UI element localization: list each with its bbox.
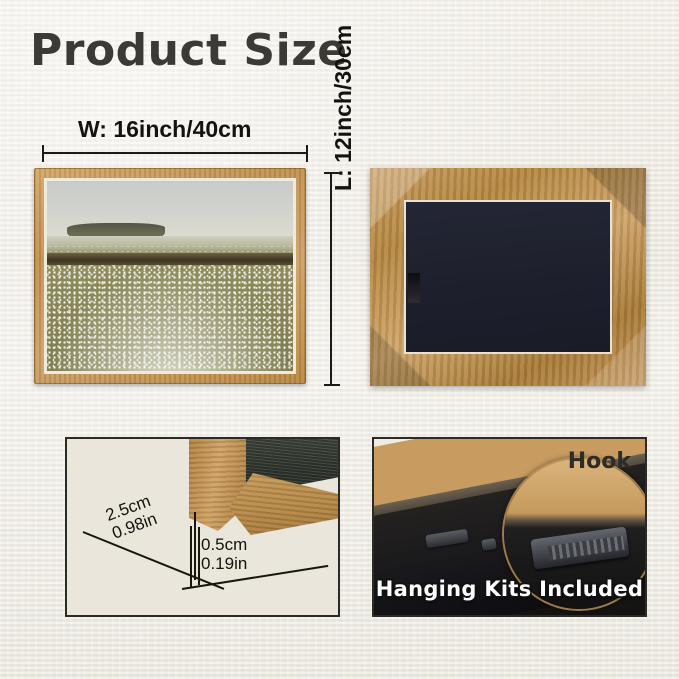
length-dimension-cap-bottom [324, 384, 340, 386]
hanging-kits-label: Hanging Kits Included [374, 577, 645, 601]
depth-measure-label: 2.5cm 0.98in [103, 491, 160, 543]
hook-label: Hook [568, 449, 631, 474]
width-dimension-label: W: 16inch/40cm [78, 116, 251, 143]
artwork-image [47, 181, 293, 371]
hook-screw-icon [481, 538, 497, 551]
length-dimension-cap-top [324, 172, 340, 174]
framed-artwork-front [34, 168, 306, 384]
artwork-white-flowers [47, 265, 293, 371]
length-dimension-label: L: 12inch/30cm [330, 0, 357, 191]
depth-tick-outer [194, 512, 196, 580]
product-size-infographic: Product Size W: 16inch/40cm L: 12inch/30… [0, 0, 679, 679]
backing-board [404, 200, 612, 354]
hanging-kit-panel: Hook Hanging Kits Included [372, 437, 647, 617]
profile-cm: 0.5cm [201, 535, 247, 554]
length-dimension-line [330, 172, 332, 386]
profile-tick-right [198, 527, 200, 585]
back-hardware-icon [408, 273, 420, 303]
profile-measure-label: 0.5cm 0.19in [201, 535, 247, 573]
page-title: Product Size [30, 25, 348, 76]
profile-in: 0.19in [201, 554, 247, 573]
framed-artwork-back [370, 168, 646, 386]
profile-tick-left [190, 526, 192, 588]
width-dimension-line [42, 152, 308, 154]
width-dimension-cap-left [42, 145, 44, 162]
artwork-distant-hill [67, 223, 165, 236]
width-dimension-cap-right [306, 145, 308, 162]
thickness-detail-panel: 2.5cm 0.98in 0.5cm 0.19in [65, 437, 340, 617]
frame-mat-liner [44, 178, 296, 374]
